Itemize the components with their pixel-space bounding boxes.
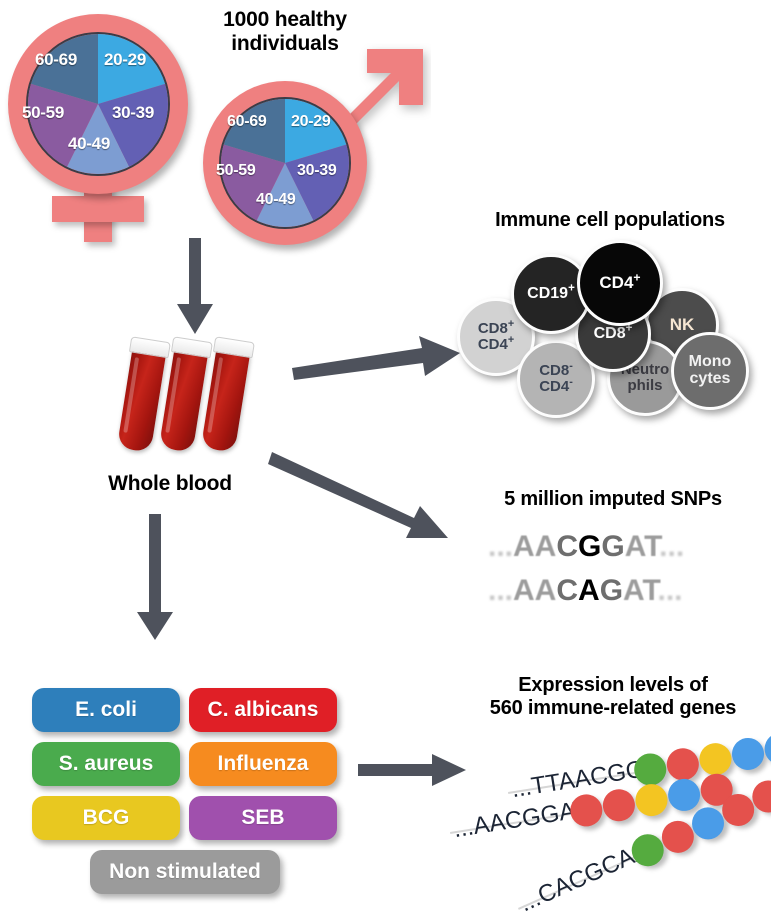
whole-blood-label: Whole blood [70,472,270,496]
snp-sequence-row: ...AACGGAT... [488,530,684,564]
immune-cell-label: CD19+ [527,286,575,303]
snp-prefix-near: C [556,574,578,607]
expression-bead [601,787,638,824]
snp-leading-dots: ... [488,530,513,563]
snp-suffix: AT [623,574,657,607]
strand-sequence: ...AACGGAT [452,795,590,844]
immune-cell-label: NK [670,316,695,334]
expression-title: Expression levels of 560 immune-related … [455,674,771,720]
snp-prefix: AA [513,530,556,563]
stimulus-non-stimulated[interactable]: Non stimulated [90,850,280,894]
stimulus-influenza[interactable]: Influenza [189,742,337,786]
arrow-blood-to-stimuli [130,514,180,644]
snp-sequence-row: ...AACAGAT... [488,574,683,608]
stimulus-bcg[interactable]: BCG [32,796,180,840]
snp-prefix-near: C [556,530,578,563]
expression-strands: ...TTAACGG ...AACGGAT ...CACGCAA [440,740,771,920]
snp-variant-allele: A [578,574,600,607]
snp-leading-dots: ... [488,574,513,607]
immune-populations-title: Immune cell populations [455,209,765,232]
pie-label-50-59: 50-59 [216,162,255,180]
snp-suffix-near: G [600,574,623,607]
whole-blood-tubes [108,332,288,462]
stimulus-e-coli[interactable]: E. coli [32,688,180,732]
snp-trailing-dots: ... [658,574,683,607]
pie-label-30-39: 30-39 [297,162,336,180]
expression-bead [633,782,670,819]
stimulus-s-aureus[interactable]: S. aureus [32,742,180,786]
immune-cell-label: Monocytes [689,354,732,387]
stimuli-grid: E. coli C. albicans S. aureus Influenza … [32,688,332,888]
arrow-blood-to-immune [292,336,462,382]
female-crossbar [52,196,144,222]
arrow-blood-to-snps [272,452,452,544]
snp-suffix-near: G [601,530,624,563]
arrow-cohort-to-blood [170,238,220,338]
pie-label-40-49: 40-49 [68,134,110,154]
pie-label-40-49: 40-49 [256,191,295,209]
immune-cell-cluster: CD4+ CD19+ NK CD8+ CD8+CD4+ Monocytes Ne… [455,240,771,420]
immune-cell-monocytes: Monocytes [671,332,749,410]
snp-sequences: ...AACGGAT... ...AACAGAT... [488,530,748,620]
pie-label-50-59: 50-59 [22,103,64,123]
figure-canvas: 1000 healthy individuals 20-29 30-39 40-… [0,0,771,922]
snp-suffix: AT [625,530,659,563]
immune-cell-label: CD8+ [594,326,633,343]
tube-blood [201,349,250,453]
immune-cell-label: CD8-CD4- [539,363,573,394]
pie-label-20-29: 20-29 [291,113,330,131]
stimulus-c-albicans[interactable]: C. albicans [189,688,337,732]
snps-title: 5 million imputed SNPs [455,488,771,511]
immune-cell-label: CD8+CD4+ [478,321,514,352]
male-symbol: 20-29 30-39 40-49 50-59 60-69 [203,45,433,245]
snp-prefix: AA [513,574,556,607]
female-symbol: 20-29 30-39 40-49 50-59 60-69 [8,14,198,239]
expression-bead [762,731,771,768]
pie-label-60-69: 60-69 [227,113,266,131]
tube-blood [117,349,166,453]
pie-label-60-69: 60-69 [35,50,77,70]
pie-label-30-39: 30-39 [112,103,154,123]
immune-cell-cd4p: CD4+ [577,240,663,326]
pie-label-20-29: 20-29 [104,50,146,70]
snp-variant-allele: G [578,530,601,563]
tube-blood [159,349,208,453]
snp-trailing-dots: ... [659,530,684,563]
stimulus-seb[interactable]: SEB [189,796,337,840]
immune-cell-label: CD4+ [599,274,640,292]
